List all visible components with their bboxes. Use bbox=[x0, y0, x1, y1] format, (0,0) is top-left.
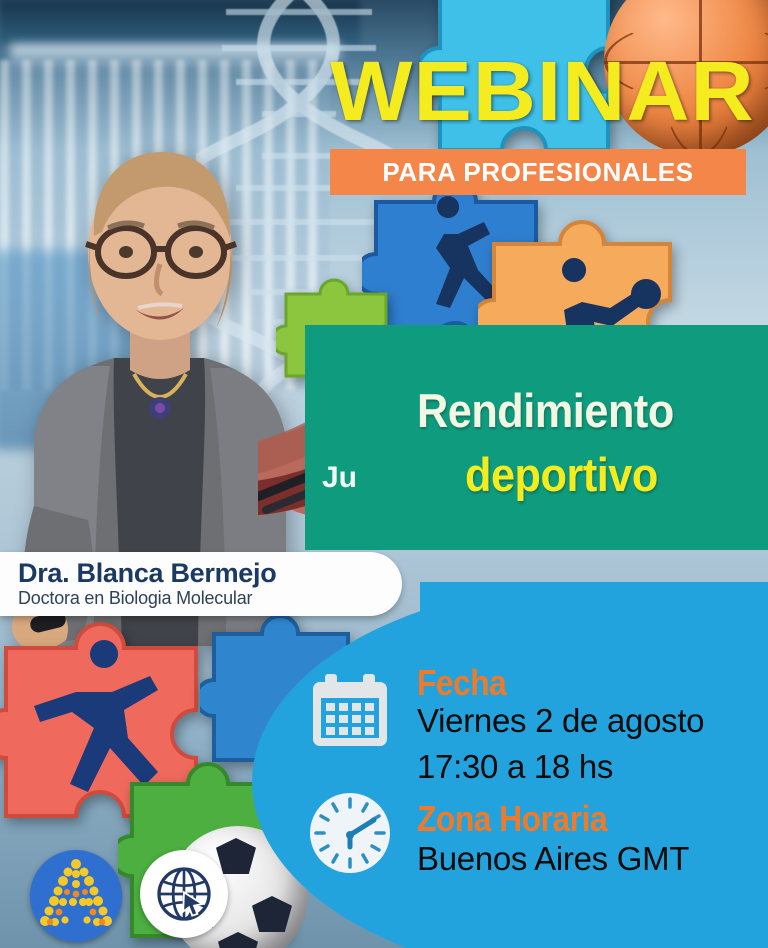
speaker-name: Dra. Blanca Bermejo bbox=[18, 559, 402, 587]
speaker-name-card: Dra. Blanca Bermejo Doctora en Biologia … bbox=[0, 552, 402, 616]
speaker-credential: Doctora en Biologia Molecular bbox=[18, 589, 402, 609]
timezone-label: Zona Horaria bbox=[417, 798, 607, 840]
letter-a-dotted-logo[interactable] bbox=[30, 850, 122, 942]
letter-a-dotted-icon bbox=[30, 850, 122, 942]
timezone-value: Buenos Aires GMT bbox=[417, 840, 689, 878]
globe-cursor-icon bbox=[154, 864, 214, 924]
date-value-line-1: Viernes 2 de agosto bbox=[417, 702, 704, 740]
date-value-line-2: 17:30 a 18 hs bbox=[417, 748, 613, 786]
date-label: Fecha bbox=[417, 662, 506, 704]
globe-cursor-logo[interactable] bbox=[140, 850, 228, 938]
details-text-group: Fecha Viernes 2 de agosto 17:30 a 18 hs … bbox=[0, 0, 768, 948]
webinar-poster: WEBINAR PARA PROFESIONALES Ju Rendimient… bbox=[0, 0, 768, 948]
